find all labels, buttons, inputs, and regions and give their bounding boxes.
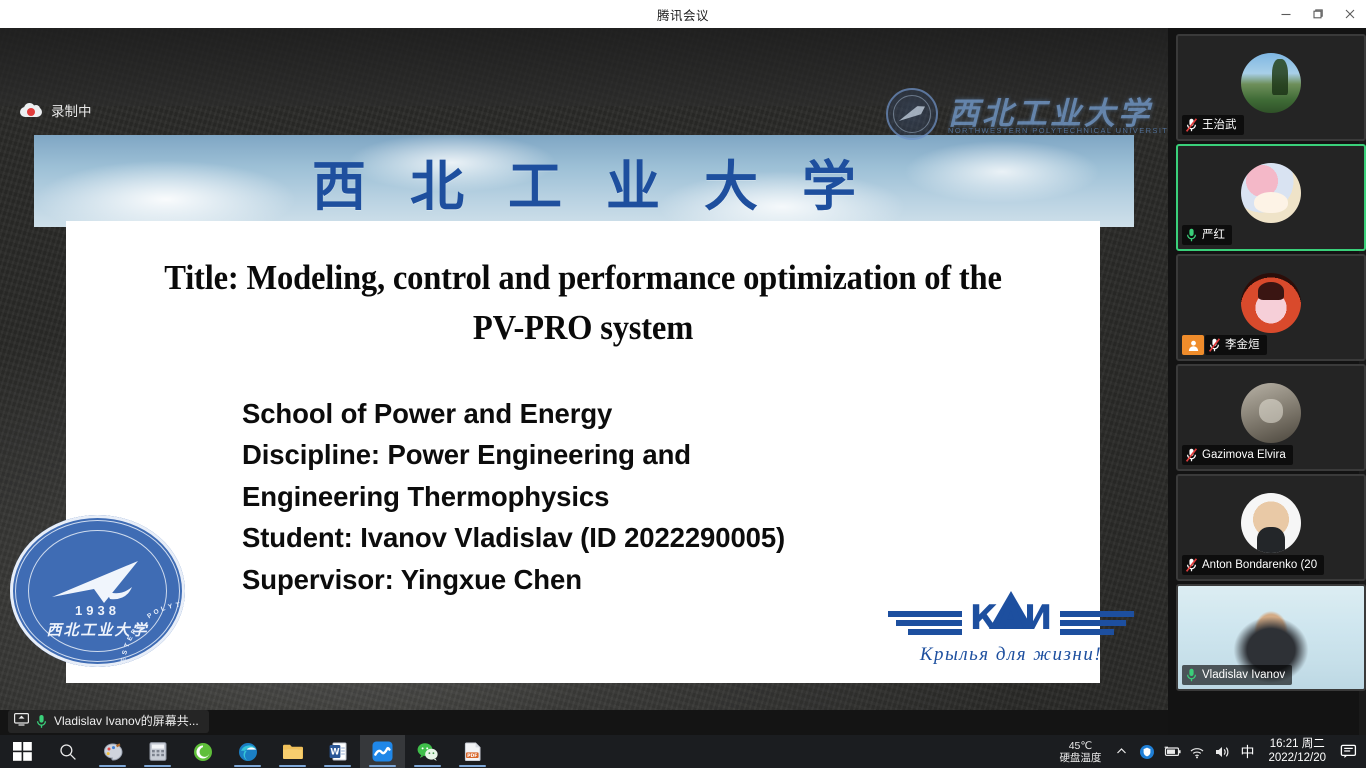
app-title: 腾讯会议 (657, 5, 709, 24)
cloud-record-icon (20, 103, 42, 118)
screen-share-label: Vladislav Ivanov的屏幕共... (54, 714, 199, 729)
microphone-icon (1186, 668, 1197, 682)
participant-name-bar: 王治武 (1182, 115, 1244, 135)
wifi-icon[interactable] (1184, 735, 1209, 768)
avatar (1241, 493, 1301, 553)
participant-tile[interactable]: Vladislav Ivanov (1176, 584, 1366, 691)
participant-name: Vladislav Ivanov (1202, 667, 1285, 683)
ime-indicator[interactable]: 中 (1234, 742, 1260, 762)
paint-palette-icon (103, 742, 123, 762)
chevron-up-icon[interactable] (1109, 735, 1134, 768)
university-banner: 西北工业大学 (34, 135, 1134, 227)
participant-name-bar: Vladislav Ivanov (1182, 665, 1292, 685)
word-document-icon: W (329, 742, 347, 761)
microphone-muted-icon (1209, 338, 1220, 352)
taskbar-item-security[interactable] (180, 735, 225, 768)
windows-taskbar: WPDF 45℃ 硬盘温度 (0, 735, 1366, 768)
participant-name: 王治武 (1202, 117, 1237, 133)
avatar (1241, 53, 1301, 113)
notification-icon[interactable] (1334, 735, 1362, 768)
slide-title: Title: Modeling, control and performance… (158, 253, 1008, 354)
taskbar-running-indicator (234, 765, 261, 767)
green-shield-icon (193, 742, 213, 762)
presentation-slide: Title: Modeling, control and performance… (66, 221, 1100, 683)
taskbar-item-word[interactable]: W (315, 735, 360, 768)
search-icon (59, 743, 77, 761)
participant-name: Anton Bondarenko (20 (1202, 557, 1317, 573)
participant-tile[interactable]: 严红 (1176, 144, 1366, 251)
seal-ring-text: NORTHWESTERN POLYTECHNICAL UNIVERSITY (10, 515, 185, 667)
participant-name-bar: Anton Bondarenko (20 (1182, 555, 1324, 575)
clock-date: 2022/12/20 (1268, 752, 1326, 766)
microphone-icon (1186, 228, 1197, 242)
maximize-button[interactable] (1302, 0, 1334, 28)
taskbar-running-indicator (459, 765, 486, 767)
microphone-muted-icon (1186, 558, 1197, 572)
clock-time: 16:21 周二 (1268, 738, 1326, 752)
close-button[interactable] (1334, 0, 1366, 28)
screen-share-icon (14, 713, 29, 731)
university-seal: 1938 西北工业大学 NORTHWESTERN POLYTECHNICAL U… (10, 515, 185, 667)
windows-logo-icon (13, 742, 32, 761)
window-controls (1270, 0, 1366, 28)
tencent-meeting-window: 腾讯会议 (0, 0, 1366, 768)
system-tray: 45℃ 硬盘温度 (1051, 735, 1366, 768)
taskbar-running-indicator (99, 765, 126, 767)
taskbar-item-start[interactable] (0, 735, 45, 768)
taskbar-item-pdf-reader[interactable]: PDF (450, 735, 495, 768)
microphone-icon (36, 714, 47, 729)
participant-tile[interactable]: 李金烜 (1176, 254, 1366, 361)
avatar (1241, 163, 1301, 223)
taskbar-running-indicator (144, 765, 171, 767)
participant-name-bar: Gazimova Elvira (1182, 445, 1293, 465)
microphone-muted-icon (1186, 448, 1197, 462)
disk-temperature-label: 硬盘温度 (1059, 752, 1101, 764)
disk-temperature-widget[interactable]: 45℃ 硬盘温度 (1051, 740, 1109, 764)
participant-tile[interactable]: Gazimova Elvira (1176, 364, 1366, 471)
participant-name: Gazimova Elvira (1202, 447, 1286, 463)
pdf-file-icon: PDF (464, 742, 482, 761)
title-bar: 腾讯会议 (0, 0, 1366, 28)
participant-name-bar: 李金烜 (1205, 335, 1267, 355)
kai-slogan: Крылья для жизни! (886, 644, 1136, 666)
screen-share-status: Vladislav Ivanov的屏幕共... (8, 710, 209, 733)
taskbar-running-indicator (324, 765, 351, 767)
recording-label: 录制中 (51, 100, 92, 120)
microphone-muted-icon (1186, 118, 1197, 132)
watermark-subtitle: NORTHWESTERN POLYTECHNICAL UNIVERSITY (948, 126, 1168, 135)
watermark-calligraphy: 西北工业大学 (948, 99, 1152, 130)
participant-tile[interactable]: Anton Bondarenko (20 (1176, 474, 1366, 581)
watermark-seal-icon (886, 88, 938, 140)
university-banner-text: 西北工业大学 (268, 142, 900, 221)
taskbar-item-calculator[interactable] (135, 735, 180, 768)
minimize-button[interactable] (1270, 0, 1302, 28)
avatar (1241, 383, 1301, 443)
taskbar-running-indicator (369, 765, 396, 767)
svg-text:W: W (330, 747, 339, 757)
participant-tile[interactable]: 王治武 (1176, 34, 1366, 141)
svg-text:PDF: PDF (467, 753, 477, 759)
meeting-body: 录制中 西北工业大学 西北工业大学 NORTHWESTERN POLYTECHN… (0, 28, 1366, 768)
kai-wings-icon: КАИ (886, 589, 1136, 647)
kai-logo: КАИ Крылья для жизни! (886, 589, 1136, 679)
taskbar-app-list: WPDF (0, 735, 495, 768)
svg-text:КАИ: КАИ (970, 598, 1053, 638)
slide-body-text: School of Power and Energy Discipline: P… (242, 393, 1062, 600)
taskbar-item-file-explorer[interactable] (270, 735, 315, 768)
taskbar-clock[interactable]: 16:21 周二 2022/12/20 (1260, 738, 1334, 765)
participant-rail[interactable]: 王治武严红李金烜Gazimova ElviraAnton Bondarenko … (1168, 28, 1366, 768)
avatar (1241, 273, 1301, 333)
university-watermark-logo: 西北工业大学 NORTHWESTERN POLYTECHNICAL UNIVER… (886, 85, 1166, 143)
battery-icon[interactable] (1159, 735, 1184, 768)
tencent-meeting-icon (372, 741, 393, 762)
participant-name: 李金烜 (1225, 337, 1260, 353)
shared-screen-view[interactable]: 录制中 西北工业大学 西北工业大学 NORTHWESTERN POLYTECHN… (0, 28, 1168, 710)
host-badge (1182, 335, 1204, 355)
volume-icon[interactable] (1209, 735, 1234, 768)
taskbar-item-tencent-meeting[interactable] (360, 735, 405, 768)
participant-name: 严红 (1202, 227, 1225, 243)
taskbar-item-search[interactable] (45, 735, 90, 768)
calculator-icon (149, 742, 167, 761)
taskbar-running-indicator (279, 765, 306, 767)
wechat-icon (417, 742, 438, 761)
recording-indicator: 录制中 (20, 100, 92, 120)
folder-icon (282, 743, 303, 761)
taskbar-item-wechat[interactable] (405, 735, 450, 768)
taskbar-item-edge[interactable] (225, 735, 270, 768)
participant-name-bar: 严红 (1182, 225, 1232, 245)
security-shield-icon[interactable] (1134, 735, 1159, 768)
taskbar-running-indicator (414, 765, 441, 767)
taskbar-item-paint[interactable] (90, 735, 135, 768)
edge-browser-icon (238, 742, 258, 762)
disk-temperature-value: 45℃ (1059, 740, 1101, 752)
